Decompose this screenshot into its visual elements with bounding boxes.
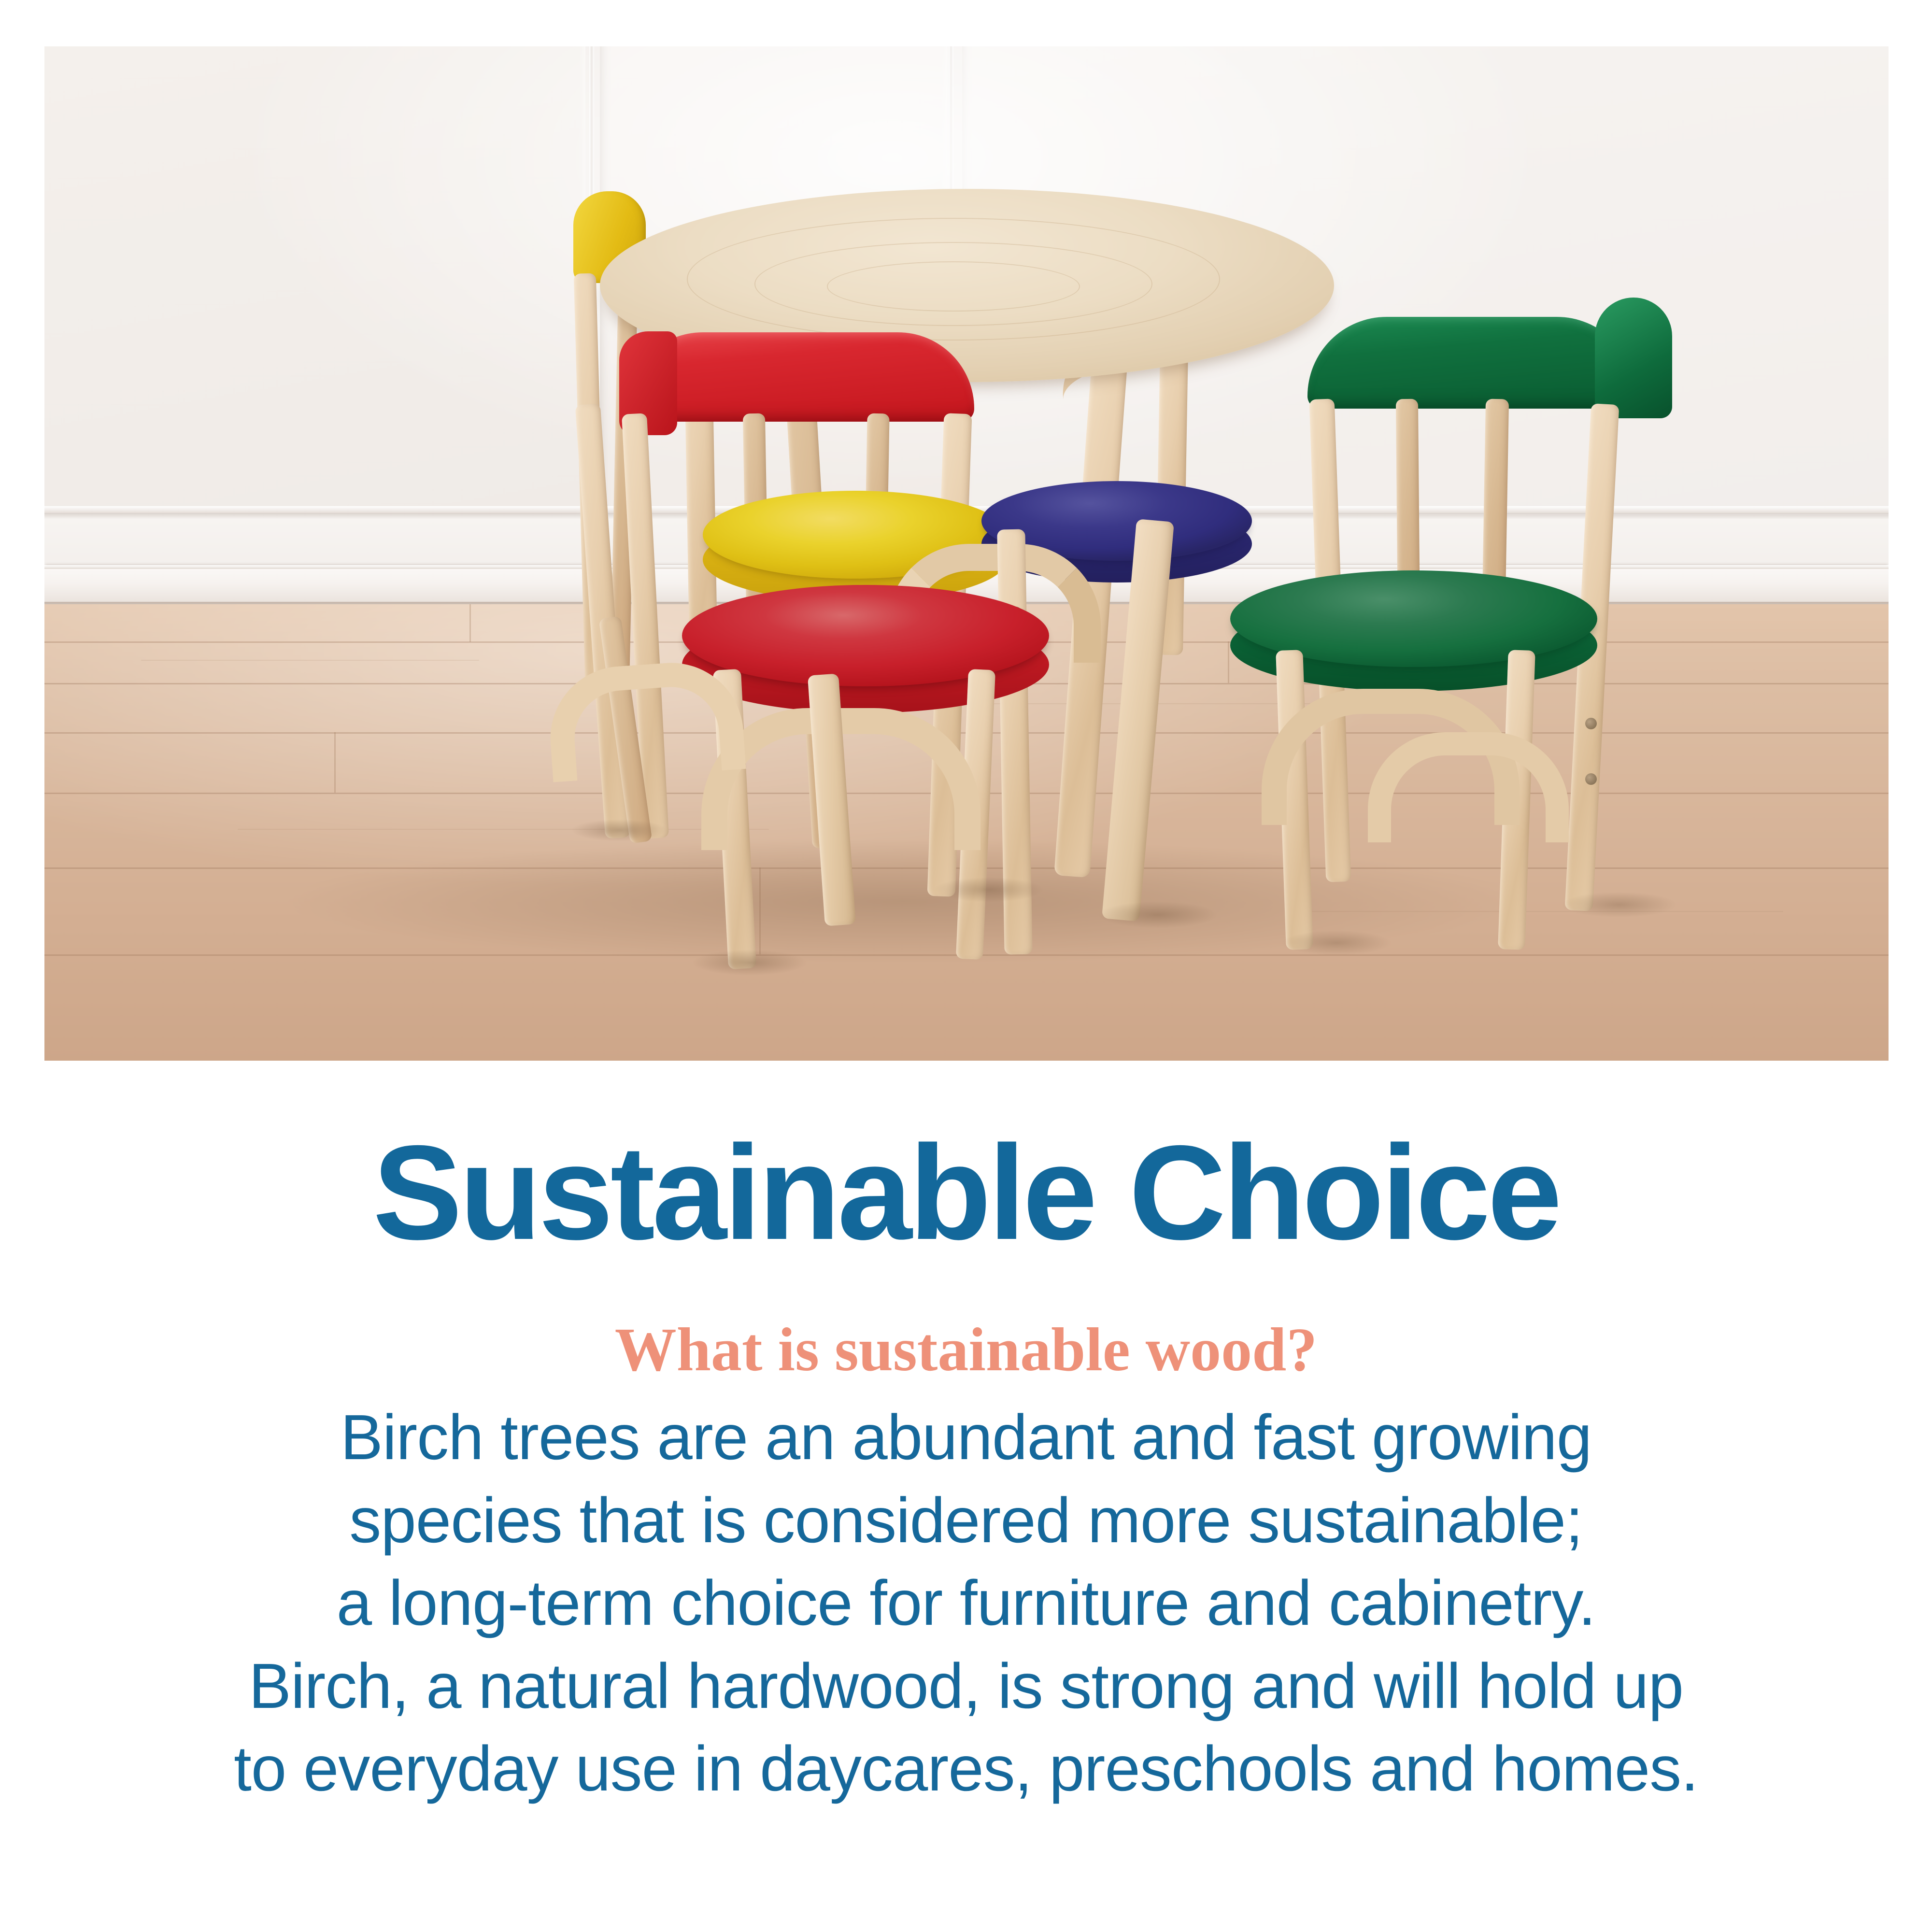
leg-contact-shadow [692, 950, 808, 976]
green-chair-backrest-wrap [1595, 298, 1672, 418]
section-subtitle: What is sustainable wood? [0, 1260, 1932, 1380]
product-info-card: Sustainable Choice What is sustainable w… [0, 0, 1932, 1932]
red-chair-backrest [626, 332, 974, 422]
page-title: Sustainable Choice [0, 1063, 1932, 1260]
product-photo [44, 46, 1889, 1061]
body-copy: Birch trees are an abundant and fast gro… [0, 1380, 1932, 1810]
body-line: species that is considered more sustaina… [0, 1479, 1932, 1562]
leg-contact-shadow [933, 877, 1044, 902]
green-back-chair-brace [1368, 732, 1569, 842]
body-line: to everyday use in daycares, preschools … [0, 1727, 1932, 1810]
text-content: Sustainable Choice What is sustainable w… [0, 1063, 1932, 1810]
green-chair-screw [1585, 773, 1597, 785]
leg-contact-shadow [1561, 892, 1677, 918]
leg-contact-shadow [1281, 930, 1392, 955]
body-line: a long-term choice for furniture and cab… [0, 1562, 1932, 1645]
leg-contact-shadow [571, 819, 668, 841]
furniture-set [44, 46, 1889, 1061]
body-line: Birch trees are an abundant and fast gro… [0, 1396, 1932, 1479]
leg-contact-shadow [1097, 901, 1218, 928]
body-line: Birch, a natural hardwood, is strong and… [0, 1645, 1932, 1728]
green-chair-screw [1585, 718, 1597, 729]
green-chair-backrest [1307, 317, 1636, 409]
table-grain [827, 261, 1080, 312]
